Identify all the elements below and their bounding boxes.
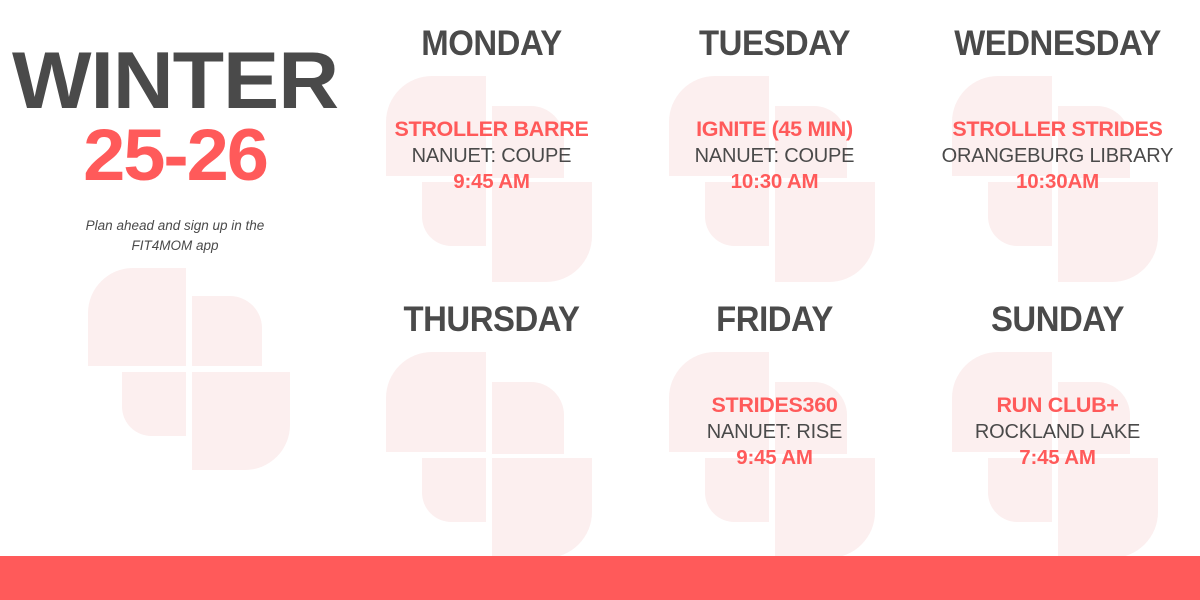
class-time-sunday: 7:45 AM <box>916 445 1199 472</box>
flower-watermark-left <box>88 268 278 478</box>
day-heading-wednesday: WEDNESDAY <box>924 24 1190 64</box>
flower-petal-bottom-right <box>492 182 592 282</box>
day-heading-tuesday: TUESDAY <box>641 24 907 64</box>
class-time-friday: 9:45 AM <box>633 445 916 472</box>
day-column-monday: MONDAY STROLLER BARRE NANUET: COUPE 9:45… <box>350 24 633 196</box>
class-location-monday: NANUET: COUPE <box>350 143 633 169</box>
class-block-friday: STRIDES360 NANUET: RISE 9:45 AM <box>633 392 916 472</box>
class-location-wednesday: ORANGEBURG LIBRARY <box>916 143 1199 169</box>
class-location-sunday: ROCKLAND LAKE <box>916 419 1199 445</box>
class-name-tuesday: IGNITE (45 MIN) <box>633 116 916 143</box>
subtitle-line-1: Plan ahead and sign up in the <box>0 216 350 236</box>
class-time-wednesday: 10:30AM <box>916 169 1199 196</box>
class-name-monday: STROLLER BARRE <box>350 116 633 143</box>
flower-petal-bottom-right <box>492 458 592 558</box>
class-block-sunday: RUN CLUB+ ROCKLAND LAKE 7:45 AM <box>916 392 1199 472</box>
class-time-tuesday: 10:30 AM <box>633 169 916 196</box>
year-title: 25-26 <box>0 121 357 190</box>
day-column-wednesday: WEDNESDAY STROLLER STRIDES ORANGEBURG LI… <box>916 24 1199 196</box>
class-location-friday: NANUET: RISE <box>633 419 916 445</box>
flower-petal-top-left <box>88 268 186 366</box>
day-column-thursday: THURSDAY <box>350 300 633 392</box>
class-name-wednesday: STROLLER STRIDES <box>916 116 1199 143</box>
flower-petal-bottom-right <box>192 372 290 470</box>
class-block-tuesday: IGNITE (45 MIN) NANUET: COUPE 10:30 AM <box>633 116 916 196</box>
day-heading-friday: FRIDAY <box>641 300 907 340</box>
class-name-sunday: RUN CLUB+ <box>916 392 1199 419</box>
flower-petal-bottom-left <box>122 372 186 436</box>
flower-petal-bottom-left <box>422 458 486 522</box>
day-heading-monday: MONDAY <box>358 24 624 64</box>
class-location-tuesday: NANUET: COUPE <box>633 143 916 169</box>
class-time-monday: 9:45 AM <box>350 169 633 196</box>
flower-watermark-thursday <box>386 352 582 566</box>
class-block-wednesday: STROLLER STRIDES ORANGEBURG LIBRARY 10:3… <box>916 116 1199 196</box>
footer-accent-bar <box>0 556 1200 600</box>
subtitle: Plan ahead and sign up in the FIT4MOM ap… <box>0 216 350 257</box>
flower-petal-bottom-right <box>1058 458 1158 558</box>
flower-petal-top-left <box>386 352 486 452</box>
flower-petal-top-right <box>492 382 564 454</box>
class-name-friday: STRIDES360 <box>633 392 916 419</box>
flower-petal-bottom-right <box>775 458 875 558</box>
flower-petal-bottom-right <box>1058 182 1158 282</box>
flower-petal-bottom-right <box>775 182 875 282</box>
season-title: WINTER <box>0 44 357 119</box>
class-block-monday: STROLLER BARRE NANUET: COUPE 9:45 AM <box>350 116 633 196</box>
subtitle-line-2: FIT4MOM app <box>0 236 350 256</box>
title-block: WINTER 25-26 Plan ahead and sign up in t… <box>0 44 350 256</box>
schedule-poster: WINTER 25-26 Plan ahead and sign up in t… <box>0 0 1200 600</box>
day-column-tuesday: TUESDAY IGNITE (45 MIN) NANUET: COUPE 10… <box>633 24 916 196</box>
day-column-friday: FRIDAY STRIDES360 NANUET: RISE 9:45 AM <box>633 300 916 472</box>
schedule-grid: MONDAY STROLLER BARRE NANUET: COUPE 9:45… <box>350 0 1200 556</box>
day-heading-sunday: SUNDAY <box>924 300 1190 340</box>
day-column-sunday: SUNDAY RUN CLUB+ ROCKLAND LAKE 7:45 AM <box>916 300 1199 472</box>
flower-petal-top-right <box>192 296 262 366</box>
day-heading-thursday: THURSDAY <box>358 300 624 340</box>
